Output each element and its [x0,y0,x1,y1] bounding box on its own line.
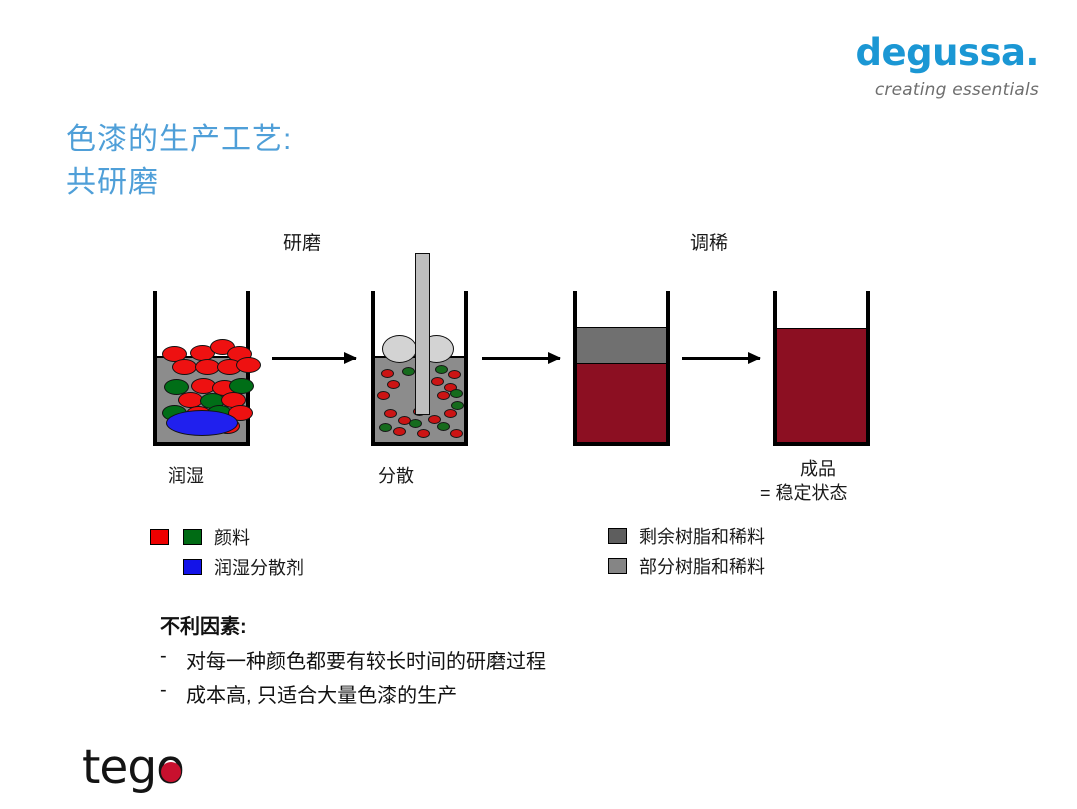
beaker-base [153,442,250,446]
note-item: - 对每一种颜色都要有较长时间的研磨过程 [160,645,546,674]
legend-item-remaining-resin: 剩余树脂和稀料 [608,523,765,549]
remaining-resin-layer [577,327,666,364]
pigment-particle [450,429,463,438]
pigment-particle [381,369,394,378]
paint-maroon-layer [577,364,666,442]
beaker-wall-right [866,291,870,446]
note-bullet-dash: - [160,645,186,674]
pigment-particle [444,409,457,418]
pigment-particle [384,409,397,418]
legend-swatch-blue [183,559,202,575]
page-title: 色漆的生产工艺: 共研磨 [66,119,292,204]
pigment-particle [379,423,392,432]
disperser-disc-left [382,335,417,363]
tego-logo: tego [82,744,207,796]
pigment-particle [448,370,461,379]
notes-heading: 不利因素: [160,610,546,639]
tego-dot-icon [161,762,181,782]
pigment-particle [393,427,406,436]
brand-logo: degussa. creating essentials [856,34,1039,100]
pigment-particle [437,391,450,400]
pigment-particle [409,419,422,428]
slide-canvas: degussa. creating essentials 色漆的生产工艺: 共研… [0,0,1077,809]
legend-label-remaining-resin: 剩余树脂和稀料 [639,523,765,549]
pigment-particle [417,429,430,438]
pigment-particle [435,365,448,374]
arrow-wetting-to-dispersing [272,357,356,360]
legend-swatch-light-grey [608,558,627,574]
beaker-dispersing [371,291,468,446]
wetting-agent-blob [166,410,238,436]
pigment-particle [172,359,197,375]
note-bullet-dash: - [160,679,186,708]
pigment-particle [236,357,261,373]
legend-swatch-dark-grey [608,528,627,544]
pigment-particle [431,377,444,386]
beaker-letdown [573,291,670,446]
note-text: 成本高, 只适合大量色漆的生产 [186,679,457,708]
note-text: 对每一种颜色都要有较长时间的研磨过程 [186,645,546,674]
legend-swatch-green [183,529,202,545]
disperser-shaft [415,253,430,415]
beaker-wall-right [464,291,468,446]
pigment-particle [402,367,415,376]
beaker-final-product [773,291,870,446]
beaker-wetting [153,291,250,446]
arrow-letdown-to-final [682,357,760,360]
beaker-base [371,442,468,446]
brand-tagline: creating essentials [856,80,1039,100]
pigment-particle [377,391,390,400]
legend-swatch-red [150,529,169,545]
legend-item-pigment: 颜料 [150,524,250,550]
note-item: - 成本高, 只适合大量色漆的生产 [160,679,546,708]
pigment-particle [450,389,463,398]
legend-label-partial-resin: 部分树脂和稀料 [639,553,765,579]
brand-name: degussa. [856,34,1039,71]
legend-label-pigment: 颜料 [214,524,250,550]
legend-label-wetting-agent: 润湿分散剂 [214,554,304,580]
stage-label-dispersing: 分散 [378,462,414,488]
paint-maroon-layer [777,328,866,442]
process-label-dilution: 调稀 [690,228,728,255]
pigment-particle [387,380,400,389]
process-label-grinding: 研磨 [283,228,321,255]
stage-label-final: 成品 [800,455,836,481]
tego-wordmark: tego [82,744,207,791]
pigment-particle [437,422,450,431]
stage-sublabel-final: = 稳定状态 [760,479,848,505]
legend-item-wetting-agent: 润湿分散剂 [183,554,304,580]
arrow-dispersing-to-letdown [482,357,560,360]
beaker-wall-right [666,291,670,446]
beaker-base [573,442,670,446]
stage-label-wetting: 润湿 [168,462,204,488]
notes-block: 不利因素: - 对每一种颜色都要有较长时间的研磨过程 - 成本高, 只适合大量色… [160,610,546,708]
beaker-base [773,442,870,446]
legend-item-partial-resin: 部分树脂和稀料 [608,553,765,579]
